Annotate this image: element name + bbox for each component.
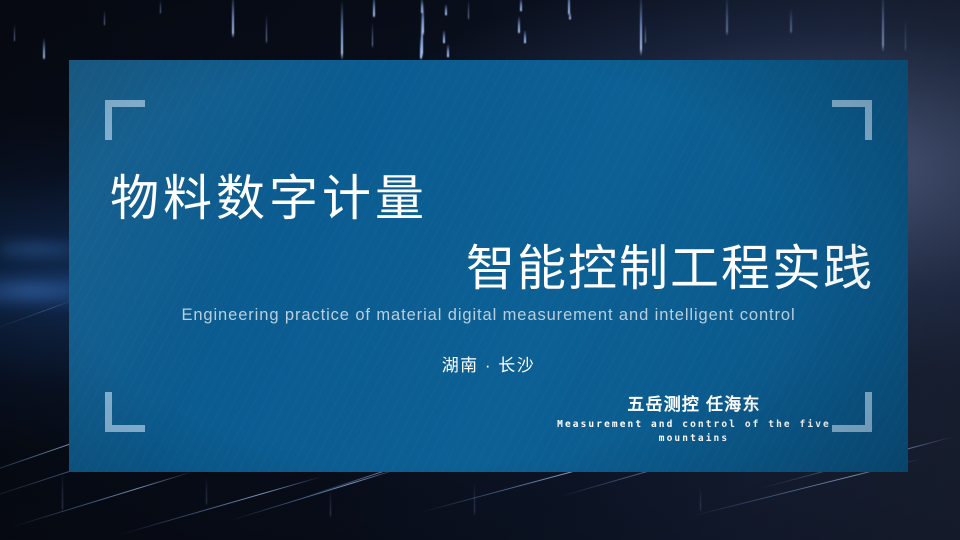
- rain-streak: [468, 0, 469, 20]
- presenter-credit-english: Measurement and control of the five moun…: [524, 418, 864, 446]
- rain-streak: [726, 0, 728, 36]
- rain-streak: [905, 18, 906, 52]
- rain-streak: [520, 0, 522, 12]
- rain-streak: [43, 38, 45, 60]
- corner-bracket-bottom-left: [105, 392, 145, 432]
- rain-streak: [445, 4, 447, 16]
- rain-streak: [206, 476, 207, 506]
- rain-streak: [422, 2, 424, 36]
- subtitle-english: Engineering practice of material digital…: [69, 307, 908, 324]
- content-panel: 物料数字计量 智能控制工程实践 Engineering practice of …: [69, 60, 908, 472]
- rain-streak: [232, 0, 234, 38]
- rain-streak: [700, 486, 701, 512]
- rain-streak: [882, 0, 884, 52]
- rain-streak: [372, 22, 373, 48]
- corner-bracket-top-left: [105, 100, 145, 140]
- rain-streak: [443, 30, 445, 44]
- rain-streak: [645, 24, 646, 44]
- title-line-2: 智能控制工程实践: [69, 245, 874, 294]
- rain-streak: [518, 16, 520, 34]
- title-slide: 物料数字计量 智能控制工程实践 Engineering practice of …: [0, 0, 960, 540]
- rain-streak: [160, 0, 161, 14]
- rain-streak: [62, 472, 63, 512]
- rain-streak: [266, 14, 267, 44]
- rain-streak: [447, 44, 449, 58]
- rain-streak: [104, 10, 105, 26]
- rain-streak: [341, 0, 343, 60]
- corner-bracket-top-right: [832, 100, 872, 140]
- rain-streak: [330, 490, 331, 518]
- rain-streak: [640, 0, 642, 56]
- presenter-credit: 五岳测控 任海东 Measurement and control of the …: [524, 394, 864, 446]
- rain-streak: [420, 36, 422, 60]
- rain-streak: [373, 0, 375, 18]
- presenter-credit-chinese: 五岳测控 任海东: [524, 394, 864, 415]
- rain-streak: [14, 24, 15, 42]
- rain-streak: [790, 8, 792, 34]
- title-line-1: 物料数字计量: [110, 175, 428, 224]
- location-text: 湖南 · 长沙: [69, 357, 908, 374]
- rain-streak: [524, 30, 526, 44]
- rain-streak: [569, 12, 571, 20]
